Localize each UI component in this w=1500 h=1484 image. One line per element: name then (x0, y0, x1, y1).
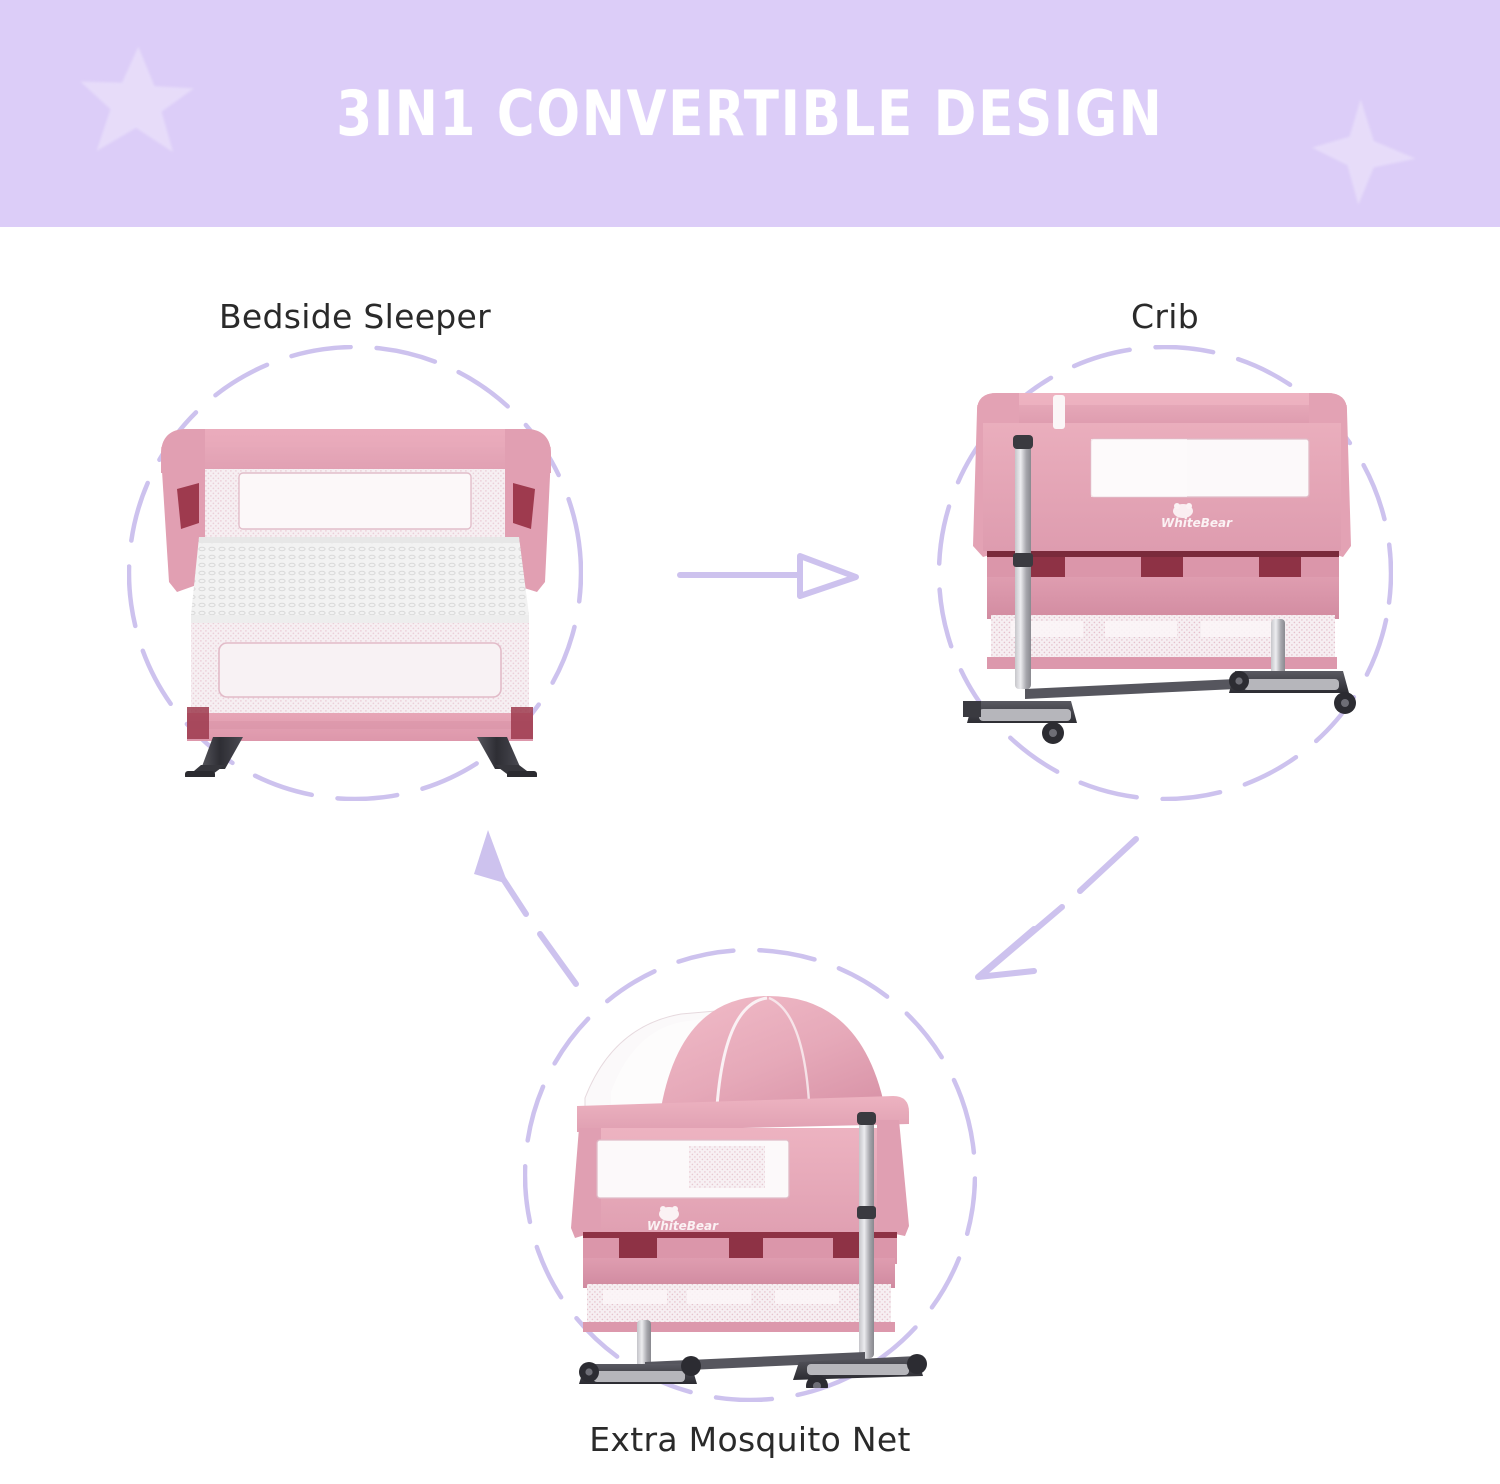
header-banner: 3IN1 CONVERTIBLE DESIGN (0, 0, 1500, 227)
label-bedside-sleeper: Bedside Sleeper (127, 297, 583, 336)
svg-text:WhiteBear: WhiteBear (647, 1219, 719, 1233)
svg-text:WhiteBear: WhiteBear (1161, 516, 1233, 530)
node-crib[interactable]: Crib (937, 345, 1393, 801)
product-mosquito-net: WhiteBear (541, 968, 961, 1388)
node-bedside-sleeper[interactable]: Bedside Sleeper (127, 345, 583, 801)
arrow-sleeper-to-crib (672, 540, 862, 610)
product-bedside-sleeper (147, 377, 567, 777)
diagram-stage: Bedside Sleeper (0, 227, 1500, 1484)
arrow-net-to-sleeper (448, 822, 628, 992)
page-title: 3IN1 CONVERTIBLE DESIGN (60, 0, 1440, 227)
product-crib: WhiteBear (953, 371, 1373, 781)
node-mosquito-net[interactable]: Extra Mosquito Net (523, 948, 977, 1402)
label-mosquito-net: Extra Mosquito Net (523, 1420, 977, 1459)
arrow-crib-to-net (950, 825, 1150, 985)
label-crib: Crib (937, 297, 1393, 336)
